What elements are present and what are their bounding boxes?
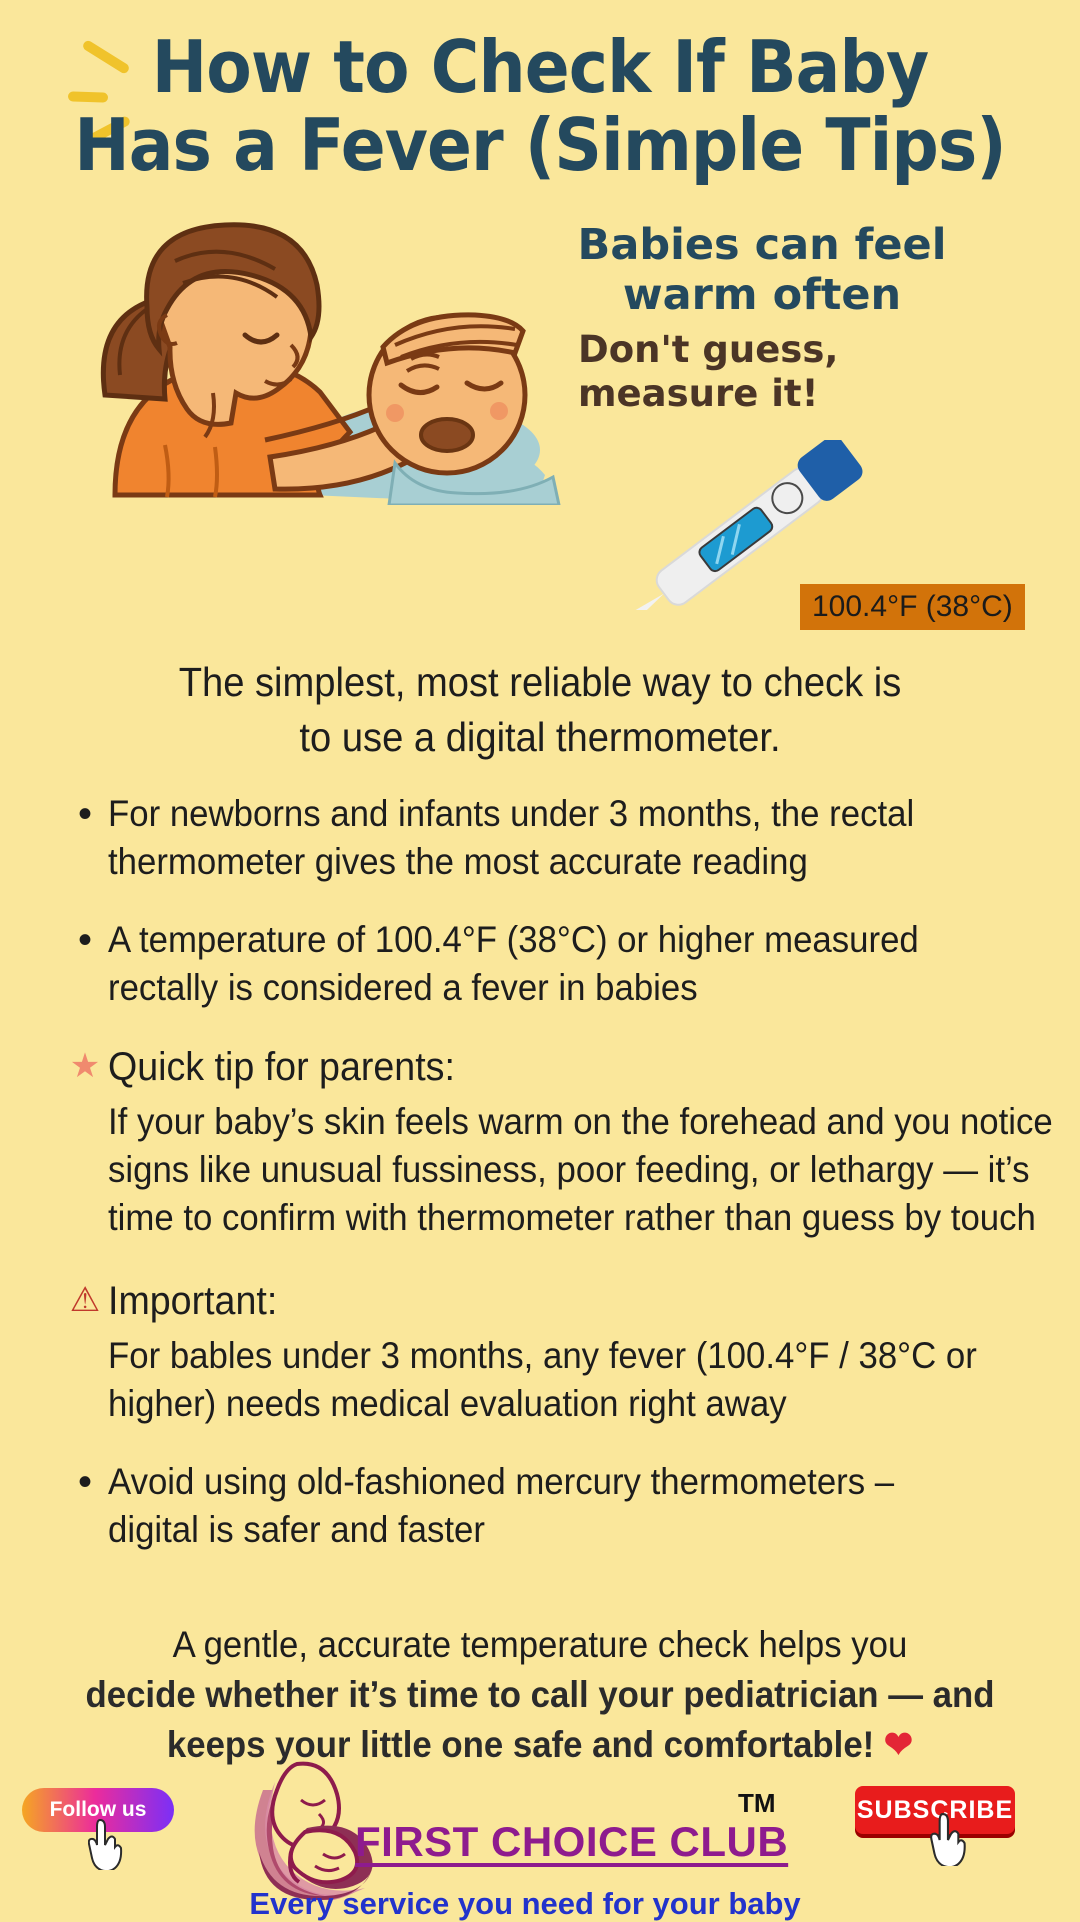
temperature-badge: 100.4°F (38°C) (800, 584, 1025, 630)
list-item: • A temperature of 100.4°F (38°C) or hig… (62, 916, 1042, 1012)
closing-line-3: keeps your little one safe and comfortab… (167, 1724, 874, 1765)
closing-paragraph: A gentle, accurate temperature check hel… (70, 1620, 1010, 1770)
content-list: • For newborns and infants under 3 month… (62, 790, 1042, 1584)
bullet-icon: • (62, 1458, 108, 1506)
list-item-text: Avoid using old-fashioned mercury thermo… (108, 1458, 986, 1554)
important-text: For bables under 3 months, any fever (10… (108, 1332, 1080, 1428)
important-block: ⚠ Important: For bables under 3 months, … (62, 1276, 1042, 1428)
hero-headline-line-2: warm often (552, 270, 972, 320)
important-heading: Important: (108, 1276, 986, 1326)
page-title: How to Check If Baby Has a Fever (Simple… (0, 28, 1080, 184)
bullet-icon: • (62, 916, 108, 964)
cursor-hand-icon (930, 1812, 968, 1866)
list-item: • Avoid using old-fashioned mercury ther… (62, 1458, 1042, 1554)
title-line-2: Has a Fever (Simple Tips) (43, 106, 1037, 184)
heart-icon: ❤ (884, 1724, 913, 1765)
closing-line-2: decide whether it’s time to call your pe… (70, 1670, 1010, 1720)
bullet-icon: • (62, 790, 108, 838)
hero-subheadline: Don't guess, measure it! (578, 328, 918, 416)
brand-name: FIRST CHOICE CLUB (355, 1818, 788, 1866)
closing-line-1: A gentle, accurate temperature check hel… (70, 1620, 1010, 1670)
quick-tip-text: If your baby’s skin feels warm on the fo… (108, 1098, 1080, 1242)
quick-tip-heading: Quick tip for parents: (108, 1042, 986, 1092)
warning-icon: ⚠ (62, 1276, 108, 1324)
lead-line-1: The simplest, most reliable way to check… (94, 655, 987, 710)
star-icon: ★ (62, 1042, 108, 1090)
trademark-symbol: TM (738, 1788, 776, 1819)
list-item-text: For newborns and infants under 3 months,… (108, 790, 986, 886)
hero-headline: Babies can feel warm often (552, 220, 972, 320)
quick-tip-block: ★ Quick tip for parents: If your baby’s … (62, 1042, 1042, 1242)
hero-sub-line-1: Don't guess, (578, 328, 918, 372)
cursor-hand-icon (88, 1818, 124, 1870)
footer: Follow us FIRST CHOICE C (0, 1760, 1080, 1920)
hero-headline-line-1: Babies can feel (552, 220, 972, 270)
mother-and-baby-illustration (95, 195, 565, 505)
infographic-page: How to Check If Baby Has a Fever (Simple… (0, 0, 1080, 1920)
title-line-1: How to Check If Baby (43, 28, 1037, 106)
hero-sub-line-2: measure it! (578, 372, 918, 416)
lead-line-2: to use a digital thermometer. (94, 710, 987, 765)
list-item: • For newborns and infants under 3 month… (62, 790, 1042, 886)
list-item-text: A temperature of 100.4°F (38°C) or highe… (108, 916, 986, 1012)
lead-paragraph: The simplest, most reliable way to check… (94, 655, 987, 765)
brand-tagline: Every service you need for your baby (245, 1886, 805, 1922)
